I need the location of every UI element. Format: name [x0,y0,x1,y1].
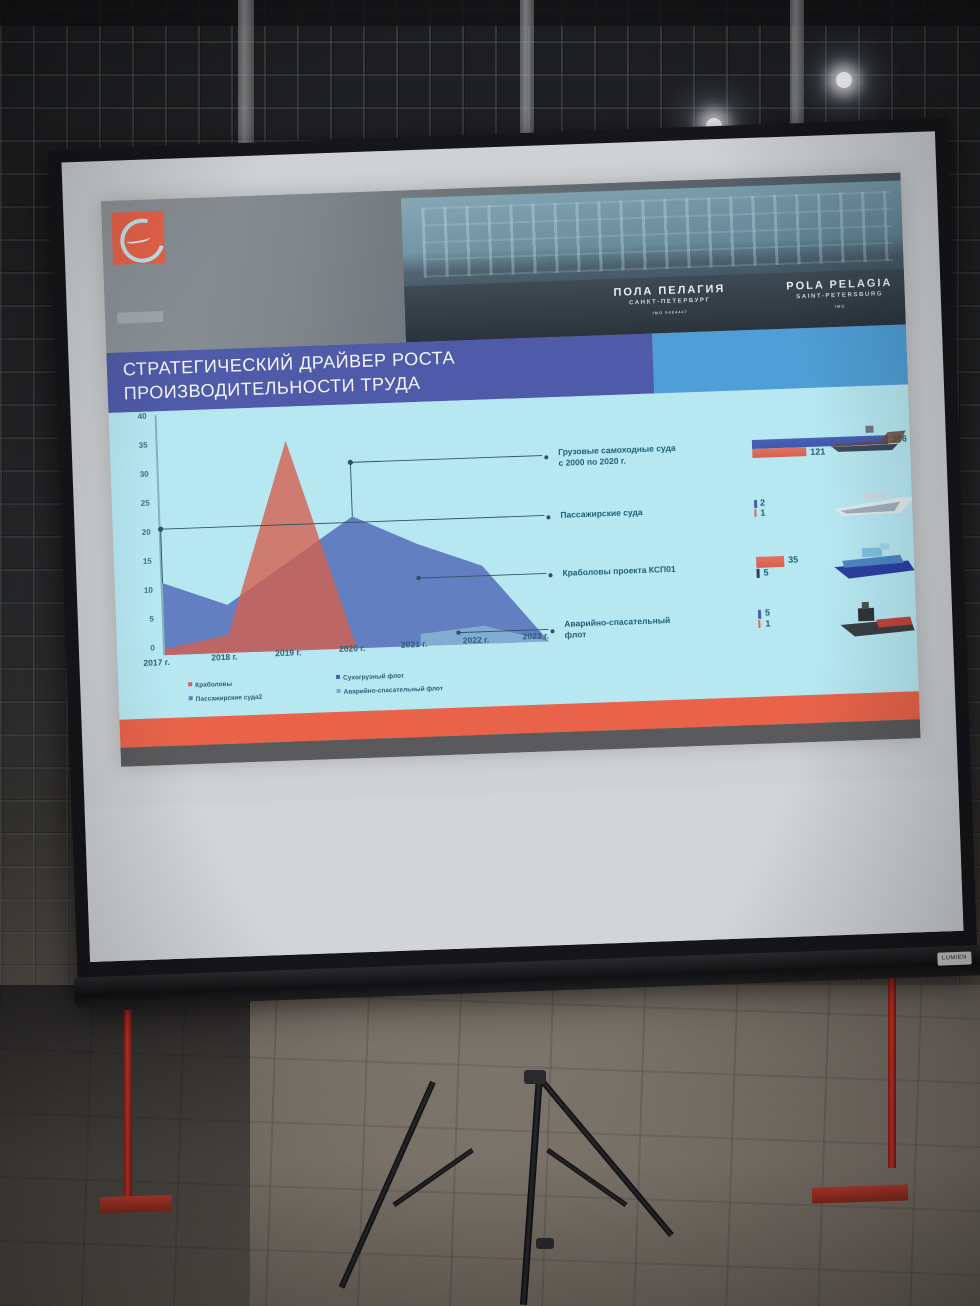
area-chart: 40 35 30 25 20 15 10 5 0 [120,398,549,675]
callout-dot-4 [550,629,554,633]
callout-passazhirskie: Пассажирские суда [560,504,726,521]
chart-value-bars: 306 121 2 1 35 5 [748,390,917,646]
rescue-tug-illustration [832,596,919,641]
bar-35 [756,556,784,568]
callout-dot-3 [548,573,552,577]
legend-label: Пассажирские суда2 [196,694,263,703]
callout-line-1: Пассажирские суда [560,504,726,521]
callout-gruzovye: Грузовые самоходные суда с 2000 по 2020 … [558,441,725,469]
x-tick-2022: 2022 г. [463,635,490,646]
legend-item-passazhirskie: Пассажирские суда2 [189,694,263,704]
chart-series-svg [120,398,549,675]
projector-screen: LUMIEN ПОЛА ПЕЛАГИЯ САНКТ-ПЕТЕРБУРГ IMO … [48,118,980,1010]
bar-1-rescue [758,620,760,628]
red-post-right [888,960,896,1168]
roller-brand-label: LUMIEN [937,951,971,965]
callout-line-1: Краболовы проекта КСП01 [562,562,728,579]
tripod-hub-top [524,1070,546,1084]
x-tick-2017: 2017 г. [143,657,170,668]
callout-avariyno: Аварийно-спасательный флот [564,613,731,641]
bar-5 [758,610,761,619]
bar-value-2: 2 [760,498,765,508]
presentation-slide: ПОЛА ПЕЛАГИЯ САНКТ-ПЕТЕРБУРГ IMO 9484447… [101,173,921,767]
callout-dot-1 [544,455,548,459]
legend-swatch-icon [188,682,192,686]
legend-swatch-icon [189,696,193,700]
callout-krabolovy-ksp01: Краболовы проекта КСП01 [562,562,728,579]
legend-item-sukhogruz: Сухогрузный флот [336,673,404,682]
bar-value-5: 5 [765,607,770,617]
crab-vessel-illustration [828,542,919,585]
x-tick-2021: 2021 г. [401,639,428,650]
screen-canvas: ПОЛА ПЕЛАГИЯ САНКТ-ПЕТЕРБУРГ IMO 9484447… [61,131,963,962]
bar-value-5-krab: 5 [763,567,768,577]
slide-body: 40 35 30 25 20 15 10 5 0 [108,384,918,719]
bar-value-121: 121 [810,446,825,457]
x-tick-2023: 2023 г. [523,630,550,641]
legend-item-avariyno: Аварийно-спасательный флот [336,685,443,696]
callout-dot-2 [546,515,550,519]
overhead-lamp-right [836,72,852,88]
bar-value-1: 1 [765,618,770,628]
company-logo [111,211,165,265]
legend-item-krabolovy: Краболовы [188,681,232,690]
legend-label: Аварийно-спасательный флот [343,685,443,696]
bar-121 [752,447,806,458]
passenger-vessel-illustration [830,486,917,523]
x-tick-2019: 2019 г. [275,647,302,658]
legend-label: Краболовы [195,681,232,689]
bar-2 [754,500,757,508]
slide-header-photo: ПОЛА ПЕЛАГИЯ САНКТ-ПЕТЕРБУРГ IMO 9484447… [101,173,906,354]
tripod-hub-bottom [536,1238,554,1249]
cargo-vessel-illustration [825,422,910,459]
bar-5-krab [756,569,759,578]
slide-title-accent [652,324,908,393]
red-base-right [812,1184,908,1203]
x-tick-2020: 2020 г. [339,643,366,654]
legend-swatch-icon [336,675,340,679]
red-base-left [100,1195,173,1214]
ceiling-beam [0,0,980,26]
bar-value-35: 35 [788,554,798,564]
legend-label: Сухогрузный флот [343,673,404,682]
header-watermark [117,311,163,324]
red-post-left [124,1010,132,1210]
x-tick-2018: 2018 г. [211,652,238,663]
screen-blank-lower [85,777,964,962]
photo-scene: LUMIEN ПОЛА ПЕЛАГИЯ САНКТ-ПЕТЕРБУРГ IMO … [0,0,980,1306]
bar-value-1: 1 [760,508,765,518]
legend-swatch-icon [336,689,340,693]
bar-1 [754,509,756,517]
